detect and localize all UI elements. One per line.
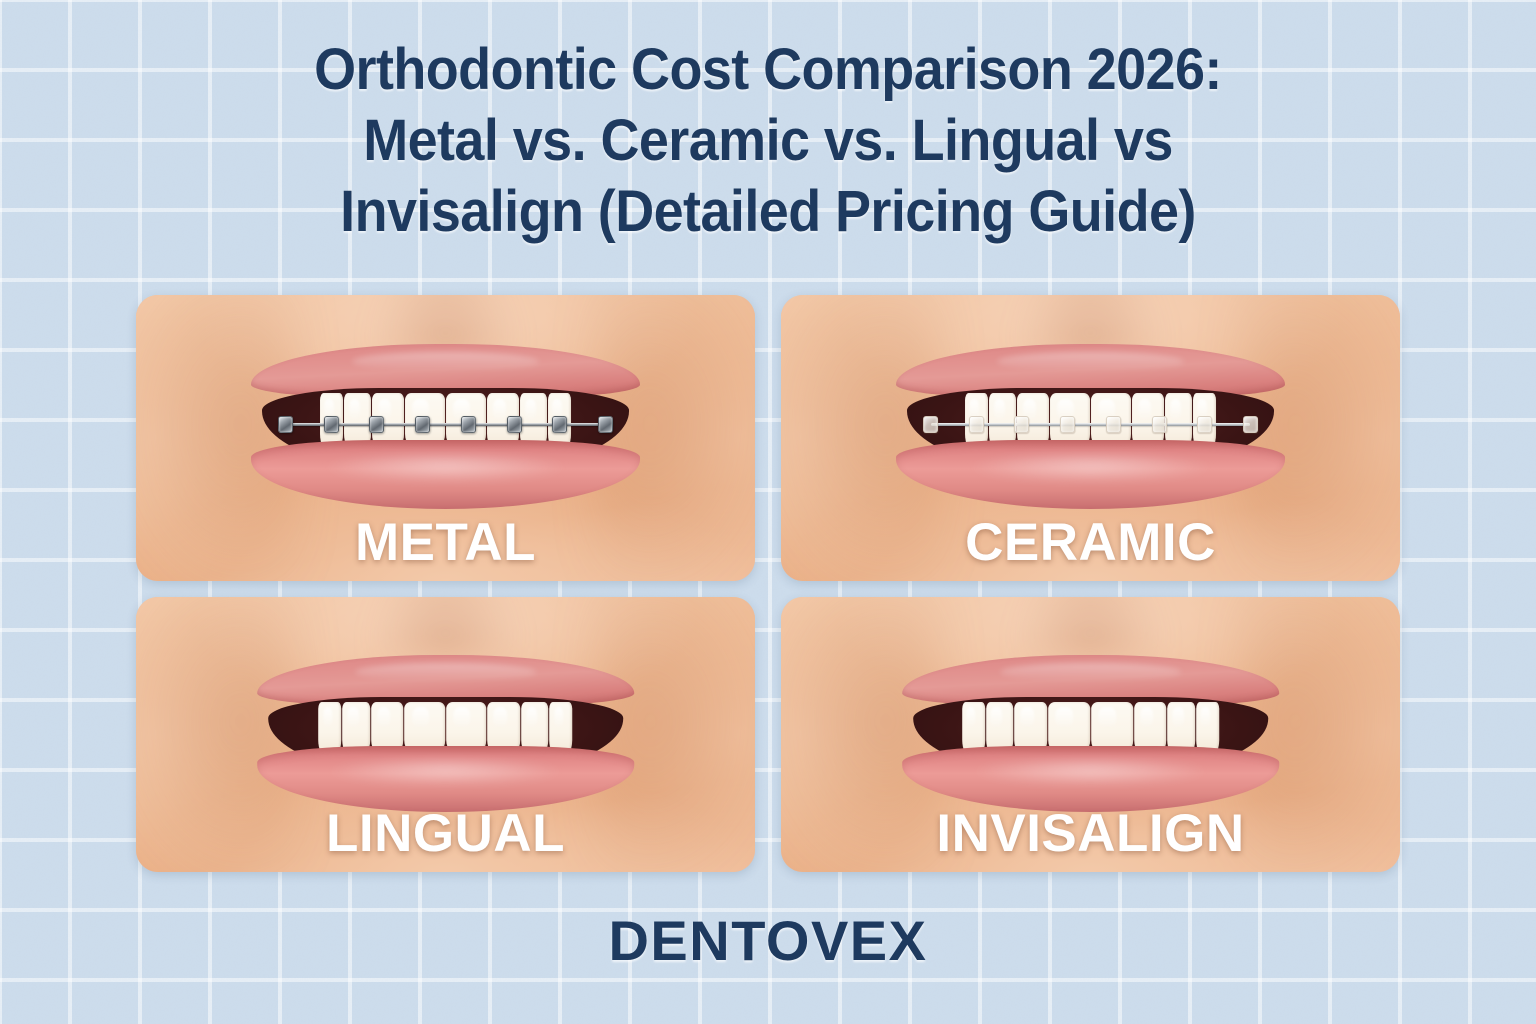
mouth-group — [896, 344, 1286, 510]
lower-lip — [257, 746, 635, 812]
nose-shadow — [1016, 597, 1165, 658]
bracket — [1014, 416, 1029, 433]
bracket — [324, 416, 339, 433]
bracket — [415, 416, 430, 433]
brand-wordmark: DENTOVEX — [0, 908, 1536, 974]
bracket-row — [278, 408, 613, 441]
bracket — [369, 416, 384, 433]
card-label-metal: METAL — [136, 513, 755, 573]
title-line-1: Orthodontic Cost Comparison 2026: — [54, 34, 1482, 105]
mouth-group — [257, 655, 635, 812]
page-title: Orthodontic Cost Comparison 2026: Metal … — [0, 34, 1536, 247]
card-label-invisalign: INVISALIGN — [781, 804, 1400, 864]
bracket — [1243, 416, 1258, 433]
card-label-ceramic: CERAMIC — [781, 513, 1400, 573]
comparison-card-grid: METAL — [136, 295, 1400, 872]
title-line-3: Invisalign (Detailed Pricing Guide) — [54, 176, 1482, 247]
bracket — [598, 416, 613, 433]
bracket — [923, 416, 938, 433]
bracket — [1197, 416, 1212, 433]
bracket — [552, 416, 567, 433]
bracket — [1106, 416, 1121, 433]
lower-lip — [896, 440, 1286, 510]
card-invisalign[interactable]: INVISALIGN — [781, 597, 1400, 872]
bracket — [507, 416, 522, 433]
bracket — [1152, 416, 1167, 433]
bracket — [278, 416, 293, 433]
bracket — [969, 416, 984, 433]
nose-shadow — [371, 597, 520, 658]
bracket — [461, 416, 476, 433]
bracket-row — [923, 408, 1258, 441]
card-label-lingual: LINGUAL — [136, 804, 755, 864]
lower-lip — [902, 746, 1280, 812]
title-line-2: Metal vs. Ceramic vs. Lingual vs — [54, 105, 1482, 176]
card-metal[interactable]: METAL — [136, 295, 755, 581]
card-ceramic[interactable]: CERAMIC — [781, 295, 1400, 581]
mouth-group — [251, 344, 641, 510]
bracket — [1060, 416, 1075, 433]
card-lingual[interactable]: LINGUAL — [136, 597, 755, 872]
lower-lip — [251, 440, 641, 510]
mouth-group — [902, 655, 1280, 812]
